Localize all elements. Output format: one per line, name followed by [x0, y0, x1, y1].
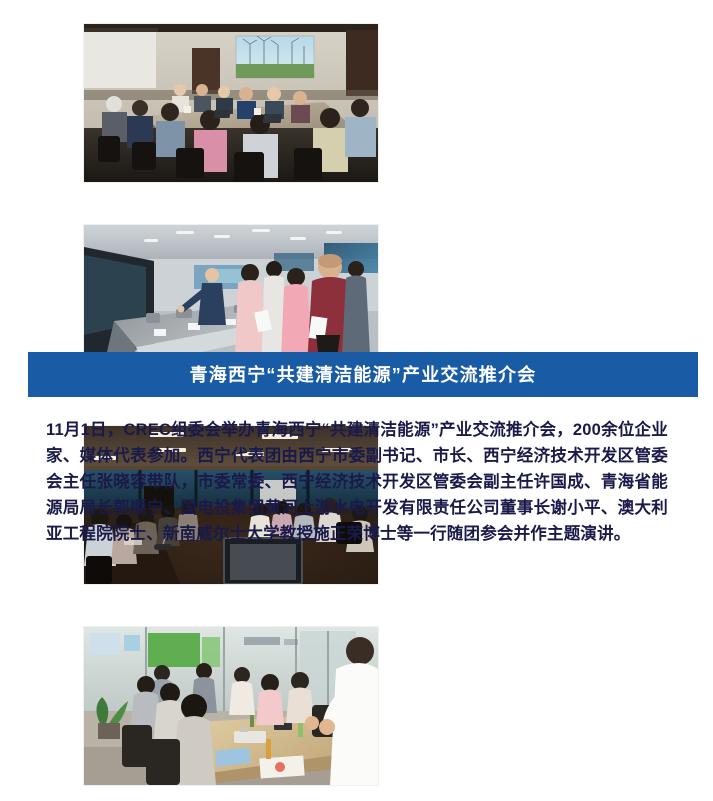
article-body: 11月1日，CREC组委会举办青海西宁“共建清洁能源”产业交流推介会，200余位…	[46, 417, 668, 547]
photo-office-meeting-presenter	[84, 627, 378, 785]
page-root: 青海西宁“共建清洁能源”产业交流推介会 11月1日，CREC组委会举办青海西宁“…	[0, 0, 713, 592]
banner-title: 青海西宁“共建清洁能源”产业交流推介会	[190, 366, 537, 384]
photo-grid	[44, 8, 664, 801]
article-paragraph: 11月1日，CREC组委会举办青海西宁“共建清洁能源”产业交流推介会，200余位…	[46, 417, 668, 547]
photo-conference-room-projector	[84, 24, 378, 182]
banner: 青海西宁“共建清洁能源”产业交流推介会	[28, 352, 698, 397]
